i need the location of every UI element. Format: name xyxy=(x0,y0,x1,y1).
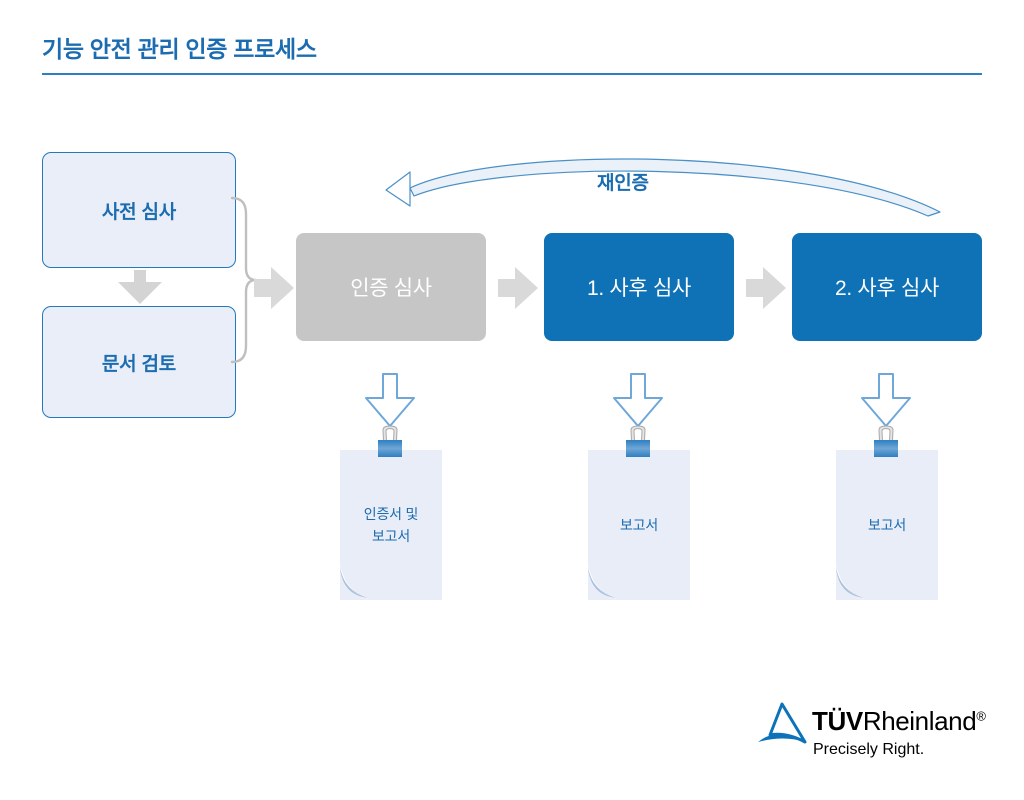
tuv-rheinland-logo: TÜVRheinland® Precisely Right. xyxy=(756,700,986,770)
stage-box-surveillance-2[interactable]: 2. 사후 심사 xyxy=(792,233,982,341)
stage-box-surveillance-2-label: 2. 사후 심사 xyxy=(835,272,939,302)
document-label-0-line-1: 보고서 xyxy=(372,528,410,544)
registered-trademark-icon: ® xyxy=(976,708,985,723)
down-arrow-icon-document-0 xyxy=(360,372,420,430)
document-label-2: 보고서 xyxy=(836,450,938,600)
preliminary-box-pre-audit-label: 사전 심사 xyxy=(102,197,176,224)
connector-arrow-icon-0 xyxy=(254,267,294,309)
title-divider xyxy=(42,73,982,75)
page-title: 기능 안전 관리 인증 프로세스 xyxy=(42,30,317,64)
logo-brand-bold: TÜV xyxy=(812,706,863,736)
stage-box-certification-audit-label: 인증 심사 xyxy=(350,272,432,302)
connector-arrow-icon-2 xyxy=(746,267,786,309)
document-label-1-line-0: 보고서 xyxy=(620,514,658,536)
down-arrow-icon-document-2 xyxy=(856,372,916,430)
document-label-0: 인증서 및 보고서 xyxy=(340,450,442,600)
preliminary-box-pre-audit[interactable]: 사전 심사 xyxy=(42,152,236,268)
logo-brand-regular: Rheinland xyxy=(863,706,977,736)
stage-box-surveillance-1-label: 1. 사후 심사 xyxy=(587,272,691,302)
document-label-0-line-0: 인증서 및 xyxy=(364,506,418,522)
logo-wordmark: TÜVRheinland® xyxy=(812,706,986,737)
preliminary-box-document-review[interactable]: 문서 검토 xyxy=(42,306,236,418)
recertification-label: 재인증 xyxy=(597,168,649,195)
down-arrow-icon-preliminary xyxy=(110,268,170,308)
connector-arrow-icon-1 xyxy=(498,267,538,309)
stage-box-certification-audit[interactable]: 인증 심사 xyxy=(296,233,486,341)
document-label-1: 보고서 xyxy=(588,450,690,600)
recertification-arrow-icon xyxy=(380,150,945,235)
preliminary-box-document-review-label: 문서 검토 xyxy=(102,349,176,376)
down-arrow-icon-document-1 xyxy=(608,372,668,430)
document-label-2-line-0: 보고서 xyxy=(868,514,906,536)
tuv-triangle-icon xyxy=(756,702,808,746)
stage-box-surveillance-1[interactable]: 1. 사후 심사 xyxy=(544,233,734,341)
logo-tagline: Precisely Right. xyxy=(813,741,924,759)
